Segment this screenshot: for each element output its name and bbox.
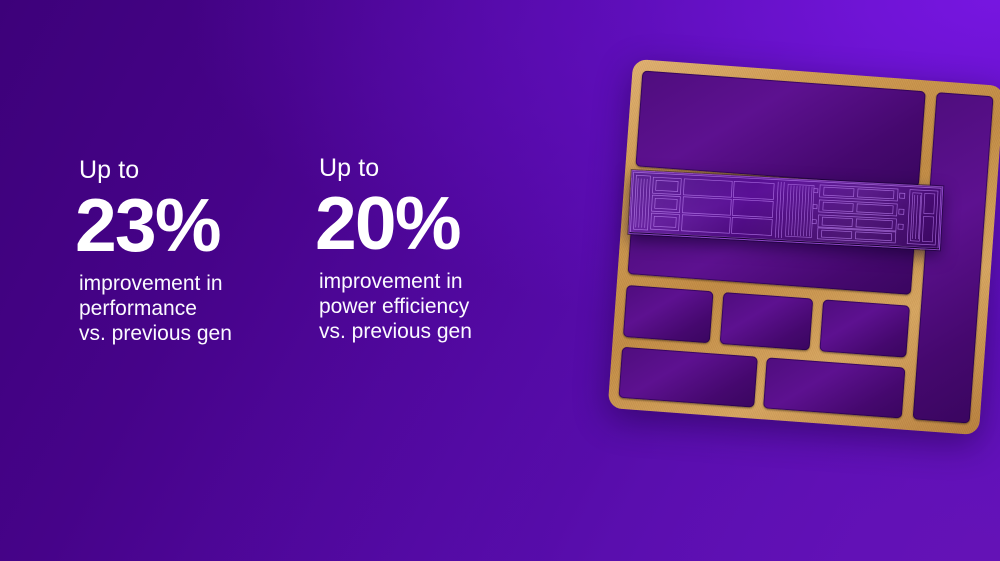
stats-group: Up to 23% improvement in performance vs.… [0, 0, 560, 561]
stat-description: improvement in performance vs. previous … [79, 271, 232, 347]
slide-canvas: Up to 23% improvement in performance vs.… [0, 0, 1000, 561]
chip-panel-row2-right [819, 299, 910, 358]
stat-block-power-efficiency: Up to 20% improvement in power efficienc… [319, 156, 472, 345]
stat-value: 23% [75, 189, 232, 261]
chip-panel-row2-left [623, 285, 714, 344]
stat-eyebrow: Up to [319, 156, 472, 181]
stat-eyebrow: Up to [79, 158, 232, 183]
chip-package [608, 59, 1000, 435]
chip-panel-row3-left [618, 346, 758, 407]
stat-description: improvement in power efficiency vs. prev… [319, 269, 472, 345]
processor-package-graphic [612, 58, 1000, 443]
chip-panel-row3-right [764, 357, 906, 418]
stat-block-performance: Up to 23% improvement in performance vs.… [79, 158, 232, 347]
chip-panel-row2-center [720, 292, 814, 351]
stat-value: 20% [315, 187, 472, 259]
